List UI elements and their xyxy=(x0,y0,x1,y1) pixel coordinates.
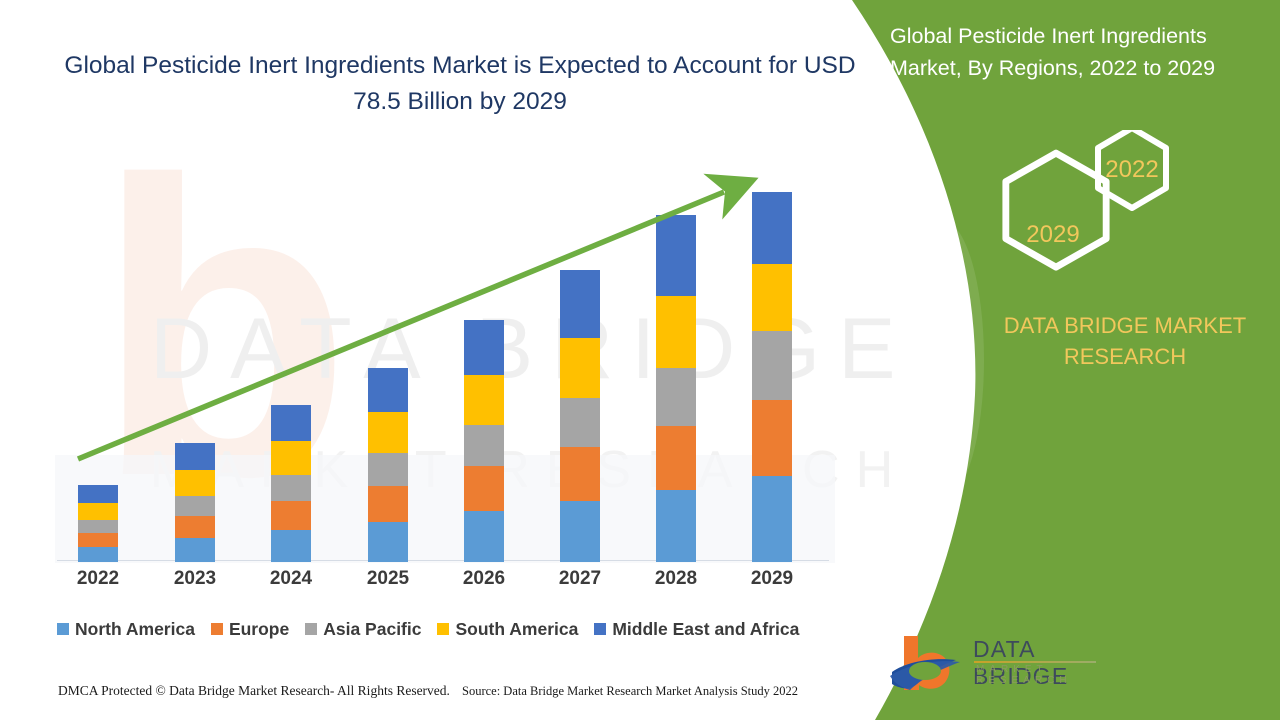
legend-swatch-icon xyxy=(594,623,606,635)
chart-legend: North AmericaEuropeAsia PacificSouth Ame… xyxy=(57,616,847,642)
legend-label: Middle East and Africa xyxy=(612,619,799,640)
footer-dmca-notice: DMCA Protected © Data Bridge Market Rese… xyxy=(58,683,450,699)
data-bridge-logo: DATA BRIDGE MARKET RESEARCH xyxy=(888,632,1103,694)
x-axis-label-2027: 2027 xyxy=(540,568,620,590)
hexagon-2022-label: 2022 xyxy=(1105,156,1158,183)
legend-item: Europe xyxy=(211,619,289,640)
panel-title: Global Pesticide Inert Ingredients Marke… xyxy=(890,20,1265,84)
hexagon-badges: 2029 2022 xyxy=(960,130,1190,290)
infographic-canvas: b DATA BRIDGE MARKET RESEARCH Global Pes… xyxy=(0,0,1280,720)
legend-swatch-icon xyxy=(57,623,69,635)
legend-label: South America xyxy=(455,619,578,640)
x-axis-label-2026: 2026 xyxy=(444,568,524,590)
legend-label: Europe xyxy=(229,619,289,640)
legend-item: Middle East and Africa xyxy=(594,619,799,640)
x-axis-label-2029: 2029 xyxy=(732,568,812,590)
x-axis-labels: 20222023202420252026202720282029 xyxy=(0,568,860,596)
x-axis-label-2024: 2024 xyxy=(251,568,331,590)
hexagon-2029-shape xyxy=(1006,153,1106,267)
legend-swatch-icon xyxy=(305,623,317,635)
x-axis-label-2025: 2025 xyxy=(348,568,428,590)
hexagon-2029-label: 2029 xyxy=(1026,221,1079,248)
legend-label: North America xyxy=(75,619,195,640)
legend-item: South America xyxy=(437,619,578,640)
brand-name: DATA BRIDGE MARKET RESEARCH xyxy=(975,310,1275,372)
logo-tagline: MARKET RESEARCH xyxy=(976,664,1103,686)
legend-item: North America xyxy=(57,619,195,640)
legend-label: Asia Pacific xyxy=(323,619,421,640)
legend-item: Asia Pacific xyxy=(305,619,421,640)
x-axis-label-2023: 2023 xyxy=(155,568,235,590)
legend-swatch-icon xyxy=(437,623,449,635)
x-axis-label-2028: 2028 xyxy=(636,568,716,590)
trend-arrow xyxy=(0,0,860,600)
footer-source-note: Source: Data Bridge Market Research Mark… xyxy=(462,684,798,699)
x-axis-label-2022: 2022 xyxy=(58,568,138,590)
legend-swatch-icon xyxy=(211,623,223,635)
